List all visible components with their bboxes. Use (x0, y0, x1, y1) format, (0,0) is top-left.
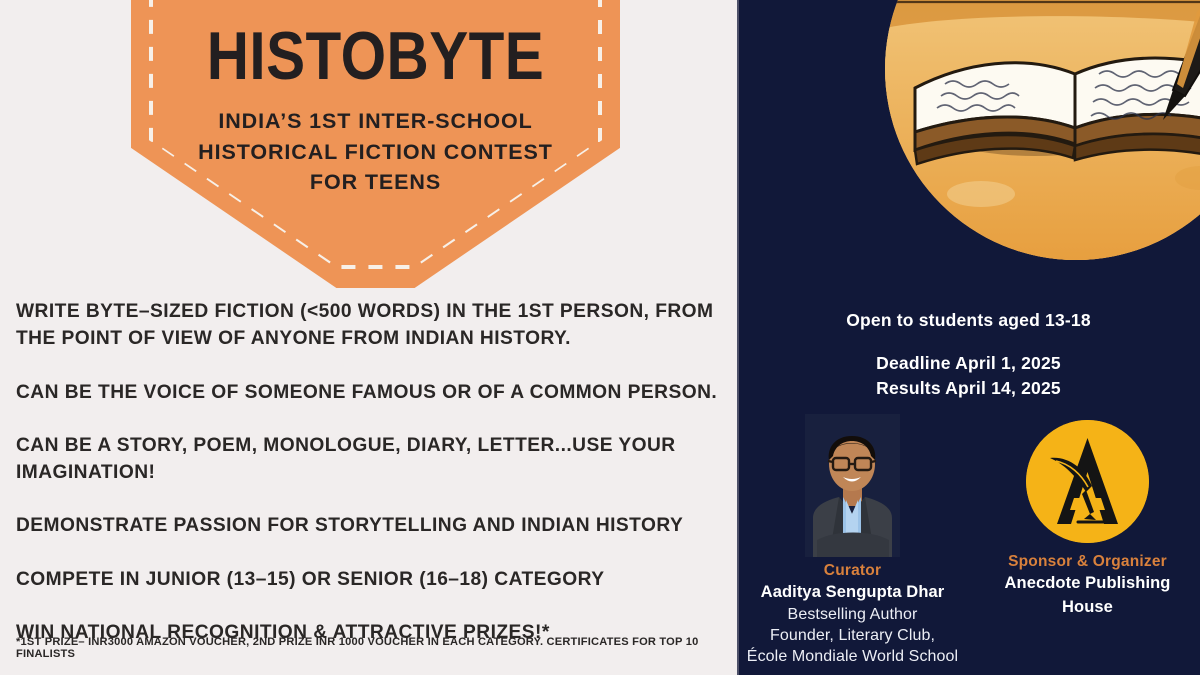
sponsor-card: Sponsor & Organizer Anecdote Publishing … (980, 414, 1195, 619)
contest-rules-list: WRITE BYTE–SIZED FICTION (<500 WORDS) IN… (16, 298, 726, 646)
prize-footnote: *1ST PRIZE– INR3000 AMAZON VOUCHER, 2ND … (16, 636, 728, 660)
event-info-block: Open to students aged 13-18 Deadline Apr… (737, 310, 1200, 400)
banner-subtitle-line-1: INDIA’S 1ST INTER-SCHOOL (131, 106, 620, 137)
rule-item-3: CAN BE A STORY, POEM, MONOLOGUE, DIARY, … (16, 432, 726, 487)
left-content-panel: HISTOBYTE INDIA’S 1ST INTER-SCHOOL HISTO… (0, 0, 737, 675)
page-title: HISTOBYTE (165, 0, 586, 90)
results-text: Results April 14, 2025 (737, 376, 1200, 401)
curator-detail-3: École Mondiale World School (745, 646, 960, 667)
eligibility-text: Open to students aged 13-18 (737, 310, 1200, 331)
curator-name: Aaditya Sengupta Dhar (745, 582, 960, 604)
curator-detail-1: Bestselling Author (745, 604, 960, 625)
curator-role-label: Curator (745, 562, 960, 580)
rule-item-2: CAN BE THE VOICE OF SOMEONE FAMOUS OR OF… (16, 379, 726, 406)
curator-card: Curator Aaditya Sengupta Dhar Bestsellin… (745, 414, 960, 667)
key-dates-group: Deadline April 1, 2025 Results April 14,… (737, 351, 1200, 400)
deadline-text: Deadline April 1, 2025 (737, 351, 1200, 376)
poster-root: HISTOBYTE INDIA’S 1ST INTER-SCHOOL HISTO… (0, 0, 1200, 675)
curator-portrait-photo (805, 414, 900, 557)
sponsor-name-line-2: House (980, 597, 1195, 619)
banner-subtitle-line-3: FOR TEENS (131, 167, 620, 198)
curator-detail-2: Founder, Literary Club, (745, 625, 960, 646)
sponsor-role-label: Sponsor & Organizer (980, 553, 1195, 571)
sponsor-name-line-1: Anecdote Publishing (980, 573, 1195, 595)
banner-subtitle-line-2: HISTORICAL FICTION CONTEST (131, 137, 620, 168)
banner-subtitle-group: INDIA’S 1ST INTER-SCHOOL HISTORICAL FICT… (131, 106, 620, 198)
banner-text-group: HISTOBYTE INDIA’S 1ST INTER-SCHOOL HISTO… (131, 0, 620, 198)
credits-row: Curator Aaditya Sengupta Dhar Bestsellin… (745, 414, 1195, 667)
rule-item-1: WRITE BYTE–SIZED FICTION (<500 WORDS) IN… (16, 298, 726, 353)
rule-item-5: COMPETE IN JUNIOR (13–15) OR SENIOR (16–… (16, 566, 726, 593)
rule-item-4: DEMONSTRATE PASSION FOR STORYTELLING AND… (16, 512, 726, 539)
anecdote-quill-logo-icon (1026, 420, 1149, 543)
